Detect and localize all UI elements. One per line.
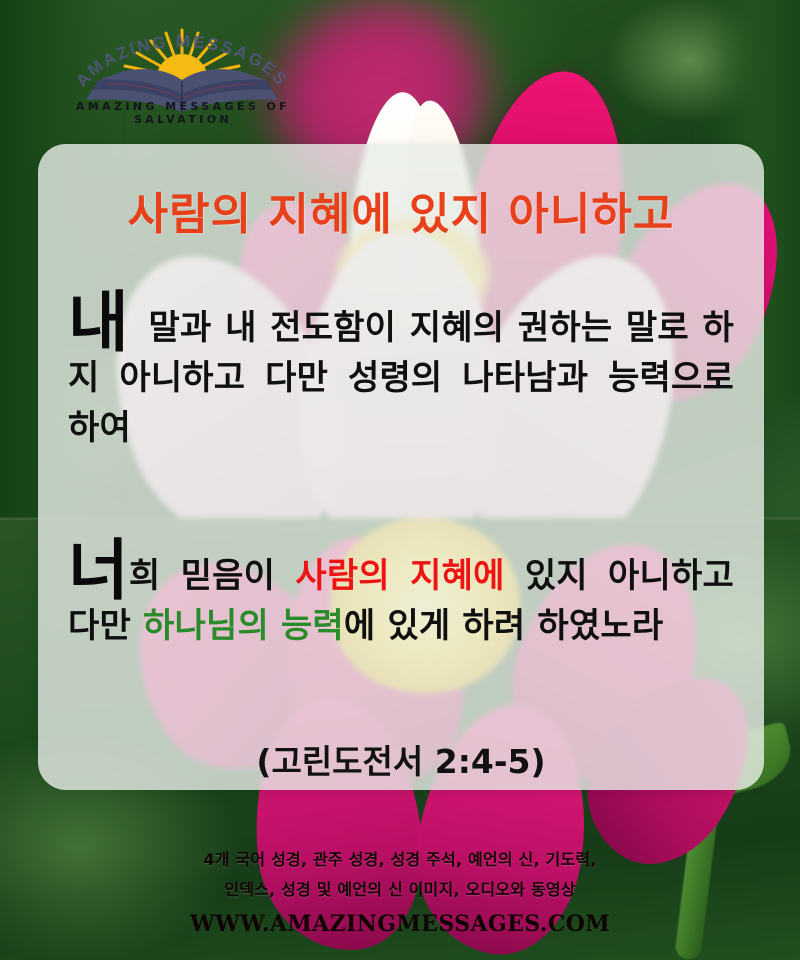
footer: 4개 국어 성경, 관주 성경, 성경 주석, 예언의 신, 기도력, 인덱스,… <box>0 845 800 937</box>
amazing-messages-logo: AMAZING MESSAGES AMAZING MESSAGES OF SAL… <box>62 22 302 118</box>
verse-highlight-red: 사람의 지혜에 <box>295 556 504 596</box>
verse-paragraph-2: 너희 믿음이 사람의 지혜에 있지 아니하고 다만 하나님의 능력에 있게 하려… <box>68 548 734 651</box>
poster-canvas: AMAZING MESSAGES AMAZING MESSAGES OF SAL… <box>0 0 800 960</box>
verse-highlight-green: 하나님의 능력 <box>143 606 344 646</box>
website-url[interactable]: WWW.AMAZINGMESSAGES.COM <box>0 911 800 937</box>
footer-line-1: 4개 국어 성경, 관주 성경, 성경 주석, 예언의 신, 기도력, <box>0 845 800 875</box>
dropcap-1: 내 <box>68 284 135 361</box>
verse-text-2a: 희 믿음이 <box>129 556 295 596</box>
footer-line-2: 인덱스, 성경 및 예언의 신 이미지, 오디오와 동영상 <box>0 875 800 905</box>
scripture-citation: (고린도전서 2:4-5) <box>38 735 764 783</box>
dropcap-2: 너 <box>68 532 129 609</box>
quote-title: 사람의 지혜에 있지 아니하고 <box>38 178 764 242</box>
verse-paragraph-1: 내 말과 내 전도함이 지혜의 권하는 말로 하지 아니하고 다만 성령의 나타… <box>68 300 734 453</box>
verse-text-1: 말과 내 전도함이 지혜의 권하는 말로 하지 아니하고 다만 성령의 나타남과… <box>68 308 734 448</box>
logo-tagline: AMAZING MESSAGES OF SALVATION <box>58 100 308 126</box>
verse-text-2c: 에 있게 하려 하였노라 <box>344 606 663 646</box>
